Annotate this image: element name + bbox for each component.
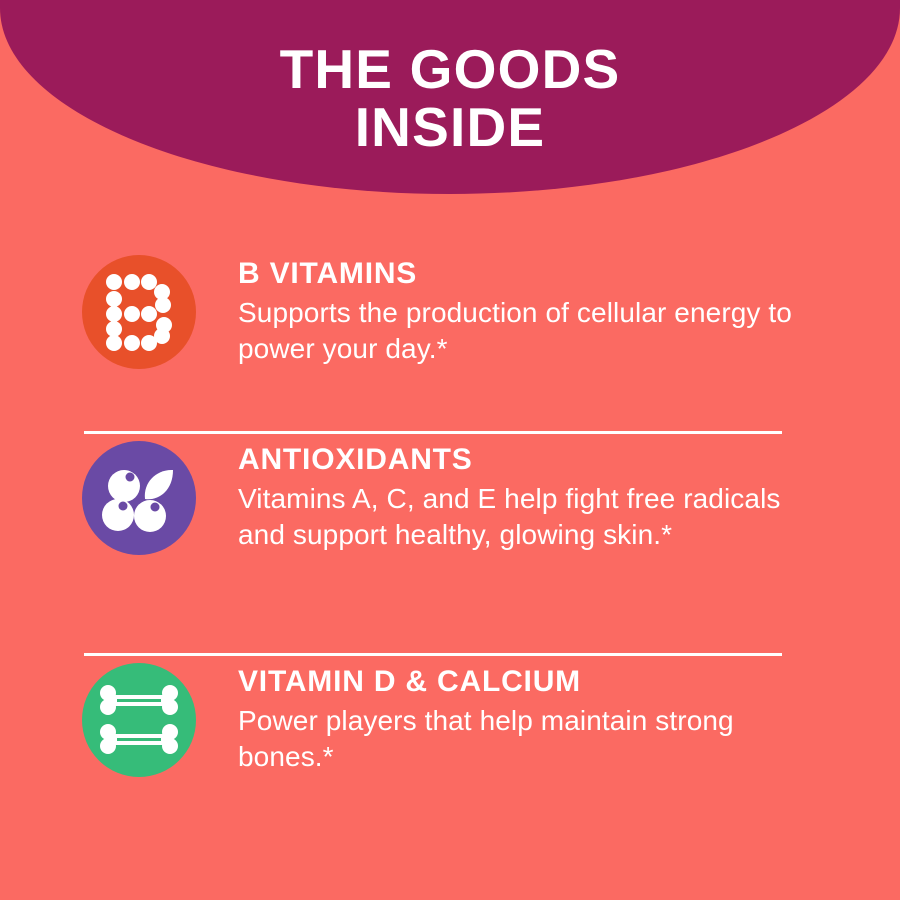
vitamin-d-calcium-text-block: VITAMIN D & CALCIUM Power players that h… [238,663,816,775]
benefit-title: ANTIOXIDANTS [238,443,816,477]
benefit-description: Supports the production of cellular ener… [238,295,808,367]
b-vitamins-text-block: B VITAMINS Supports the production of ce… [238,255,816,367]
benefits-list: B VITAMINS Supports the production of ce… [0,210,900,804]
bones-icon [97,685,181,755]
header-banner: THE GOODS INSIDE [0,0,900,210]
benefit-description: Vitamins A, C, and E help fight free rad… [238,481,808,553]
b-vitamin-dots-icon [103,273,175,351]
benefit-item-antioxidants: ANTIOXIDANTS Vitamins A, C, and E help f… [0,396,900,618]
benefit-item-b-vitamins: B VITAMINS Supports the production of ce… [0,210,900,396]
antioxidants-icon-badge [82,441,196,555]
benefit-title: VITAMIN D & CALCIUM [238,665,816,699]
benefit-item-vitamin-d-calcium: VITAMIN D & CALCIUM Power players that h… [0,618,900,804]
berries-leaf-icon [99,460,179,536]
antioxidants-text-block: ANTIOXIDANTS Vitamins A, C, and E help f… [238,441,816,553]
goods-inside-infographic: THE GOODS INSIDE [0,0,900,900]
b-vitamins-icon-badge [82,255,196,369]
benefit-title: B VITAMINS [238,257,816,291]
vitamin-d-calcium-icon-badge [82,663,196,777]
page-title: THE GOODS INSIDE [0,40,900,156]
benefit-description: Power players that help maintain strong … [238,703,808,775]
